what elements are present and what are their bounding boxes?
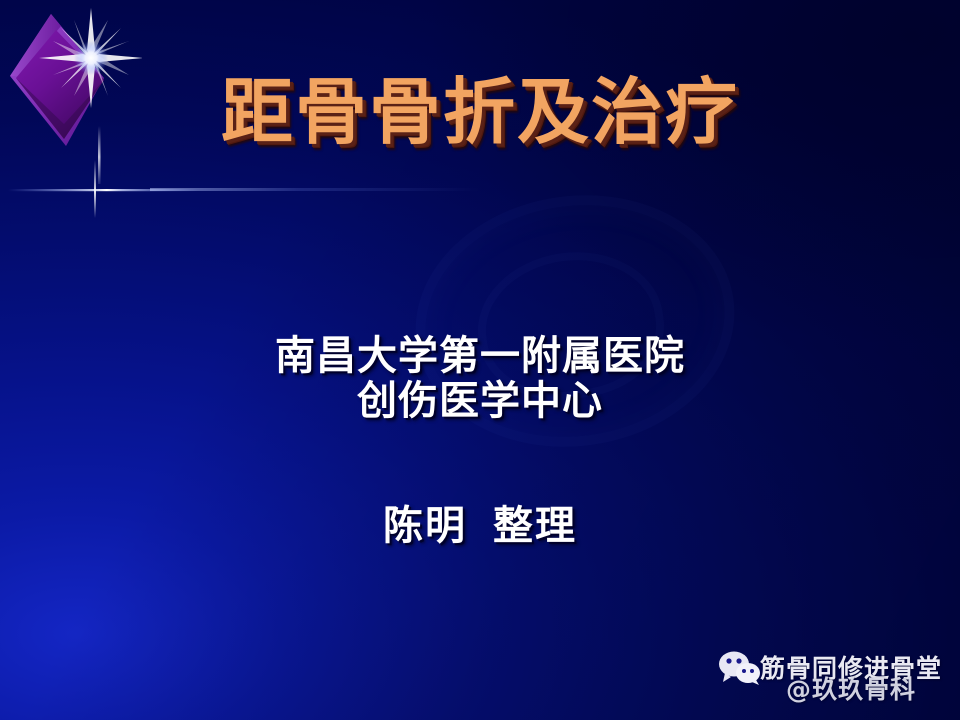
watermark-group: 筋骨同修进骨堂 @玖玖骨科 [712, 645, 960, 707]
cross-sparkle [8, 160, 198, 220]
presentation-slide: 距骨骨折及治疗 南昌大学第一附属医院 创伤医学中心 陈明整理 筋骨同修进骨堂 @… [0, 0, 960, 720]
watermark-secondary-text: @玖玖骨科 [786, 670, 916, 706]
author-role: 整理 [493, 503, 577, 548]
slide-title: 距骨骨折及治疗 [0, 76, 960, 148]
author-name: 陈明 [383, 503, 467, 548]
horizon-glow [150, 188, 480, 191]
department-name: 创伤医学中心 [0, 378, 960, 424]
organization-name: 南昌大学第一附属医院 [0, 333, 960, 379]
author-credit: 陈明整理 [0, 503, 960, 549]
wechat-icon [718, 651, 762, 685]
watermark-primary-text: 筋骨同修进骨堂 [760, 649, 942, 685]
